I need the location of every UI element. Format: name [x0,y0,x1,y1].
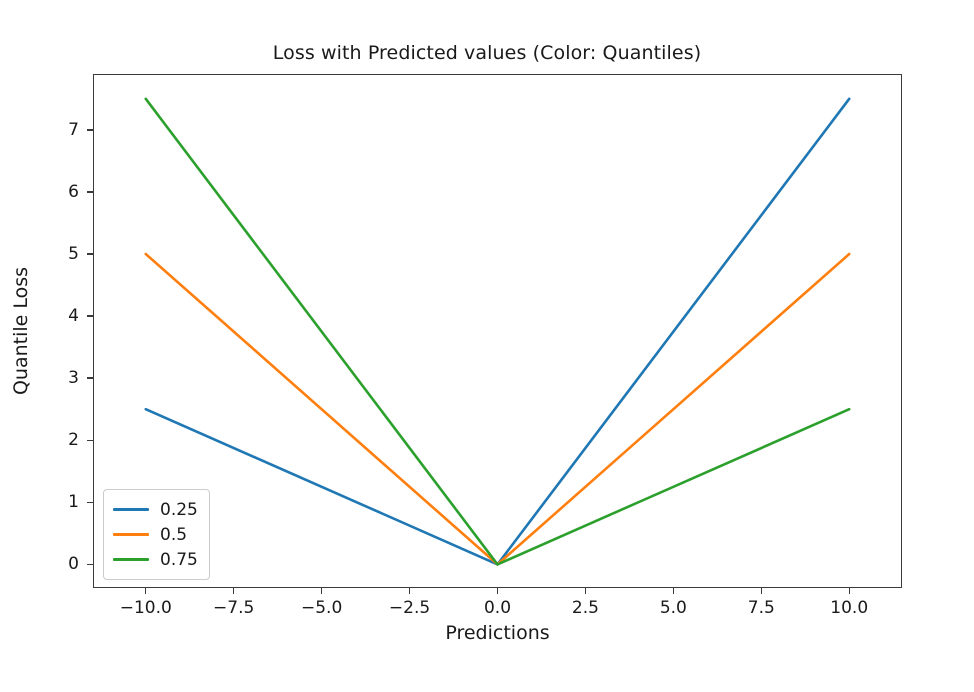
y-tick-label: 6 [13,182,79,202]
x-tick-label: 0.0 [484,598,511,618]
y-tick-label: 7 [13,120,79,140]
y-tickmark [87,502,93,503]
y-tick-label: 1 [13,492,79,512]
y-tick-label: 0 [13,554,79,574]
x-tick-label: 7.5 [748,598,775,618]
chart-legend[interactable]: 0.250.50.75 [103,489,210,580]
x-tickmark [233,588,234,594]
legend-label: 0.75 [160,550,198,570]
x-axis-label: Predictions [93,622,902,644]
x-tick-label: −5.0 [301,598,342,618]
data-line-0.25 [146,99,849,565]
chart-title: Loss with Predicted values (Color: Quant… [0,42,974,64]
y-tick-label: 5 [13,244,79,264]
y-tickmark [87,564,93,565]
x-tick-label: 2.5 [572,598,599,618]
y-tickmark [87,440,93,441]
x-tickmark [761,588,762,594]
x-tick-label: −2.5 [389,598,430,618]
legend-swatch-0.25 [113,508,149,511]
y-tickmark [87,129,93,130]
legend-item-0.25[interactable]: 0.25 [113,497,198,522]
data-line-0.5 [146,254,849,564]
data-line-0.75 [146,99,849,565]
x-tick-label: −7.5 [213,598,254,618]
x-tickmark [585,588,586,594]
plot-lines-svg [93,74,902,588]
x-tick-label: 5.0 [660,598,687,618]
y-tickmark [87,377,93,378]
figure-canvas: Loss with Predicted values (Color: Quant… [0,0,974,692]
legend-swatch-0.5 [113,533,149,536]
x-tick-label: 10.0 [830,598,868,618]
y-axis-label: Quantile Loss [10,267,32,395]
legend-label: 0.25 [160,500,198,520]
y-tickmark [87,315,93,316]
x-tickmark [497,588,498,594]
x-tickmark [409,588,410,594]
x-tickmark [849,588,850,594]
legend-swatch-0.75 [113,558,149,561]
y-tick-label: 2 [13,430,79,450]
legend-label: 0.5 [160,525,187,545]
x-tick-label: −10.0 [120,598,172,618]
legend-item-0.5[interactable]: 0.5 [113,522,198,547]
legend-item-0.75[interactable]: 0.75 [113,547,198,572]
x-tickmark [145,588,146,594]
y-tickmark [87,253,93,254]
x-tickmark [673,588,674,594]
y-tickmark [87,191,93,192]
plot-axes-area [93,74,902,588]
x-tickmark [321,588,322,594]
